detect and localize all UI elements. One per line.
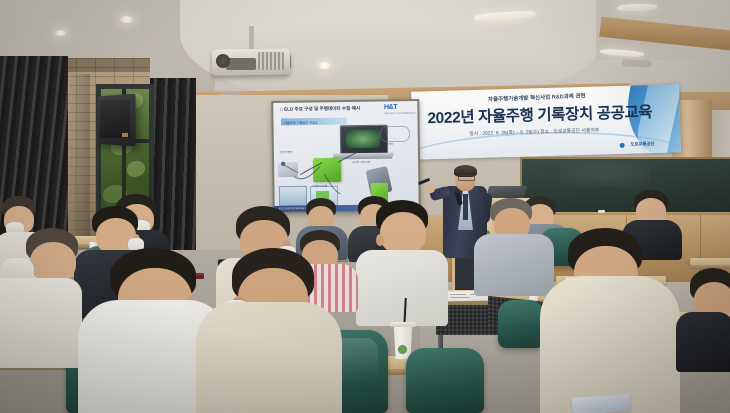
chair bbox=[406, 348, 484, 413]
ceiling-vent bbox=[622, 59, 652, 68]
slide-label-device: 기록장치 본체 bbox=[312, 184, 327, 188]
slide-cable-diagram bbox=[273, 101, 418, 211]
chalk-stick bbox=[598, 210, 605, 213]
handout-paper bbox=[571, 394, 630, 413]
presenter-left-hand bbox=[426, 185, 435, 193]
cup-logo-icon bbox=[398, 345, 407, 354]
projector-body bbox=[226, 58, 256, 70]
projector-vent bbox=[258, 52, 284, 70]
downlight-icon bbox=[55, 30, 66, 36]
banner-logo-icon bbox=[620, 142, 625, 147]
downlight-icon bbox=[120, 16, 133, 23]
downlight-icon bbox=[318, 62, 331, 69]
chalkboard-glare bbox=[560, 161, 650, 187]
presenter-tie bbox=[463, 194, 468, 220]
curtain-right bbox=[150, 78, 196, 253]
cup-lid bbox=[390, 322, 416, 327]
projector-lens-icon bbox=[216, 54, 230, 68]
desk bbox=[690, 258, 730, 265]
slide-label-laptop: 노트북 / 분석 PC bbox=[352, 160, 370, 164]
speaker-badge bbox=[122, 133, 128, 137]
event-banner: 자율주행기술개발 혁신사업 R&D과제 관련 2022년 자율주행 기록장치 공… bbox=[411, 84, 681, 159]
glasses-icon bbox=[458, 175, 475, 181]
seminar-room-photo: 자율주행기술개발 혁신사업 R&D과제 관련 2022년 자율주행 기록장치 공… bbox=[0, 0, 730, 413]
banner-org-logo: 도로교통공단 bbox=[630, 141, 654, 148]
slide-label-adapter: 전원 어댑터 bbox=[280, 150, 293, 154]
chair bbox=[498, 300, 544, 348]
slide-label-connector: 커넥터 bbox=[386, 142, 393, 146]
